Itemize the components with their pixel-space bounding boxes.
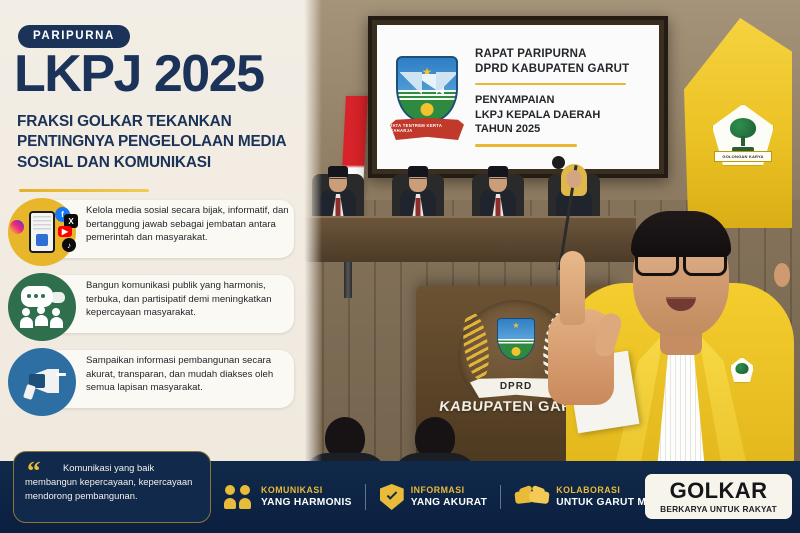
- crest-sun: [421, 103, 434, 116]
- feature-2-line1: INFORMASI: [411, 485, 488, 496]
- golkar-logo-badge: GOLKAR BERKARYA UNTUK RAKYAT: [645, 474, 792, 519]
- quote-mark-icon: “: [27, 458, 41, 485]
- list-item: f X ▶ ♪ Kelola media sosial secara bijak…: [8, 198, 298, 266]
- feature-informasi: INFORMASI YANG AKURAT: [365, 484, 501, 510]
- megaphone-glyph: [19, 365, 65, 399]
- slide-divider: [475, 83, 626, 86]
- garut-crest-wrap: ★ TATA TENTREM KERTA RAHARJA: [385, 54, 469, 140]
- points-list: f X ▶ ♪ Kelola media sosial secara bijak…: [8, 198, 298, 423]
- quote-text: Komunikasi yang baik membangun kepercaya…: [25, 461, 199, 503]
- crest-motto-ribbon: TATA TENTREM KERTA RAHARJA: [390, 118, 464, 140]
- chat-bubble-icon: [19, 286, 65, 328]
- people-group-icon: [19, 313, 65, 328]
- page-subtitle: FRAKSI GOLKAR TEKANKAN PENTINGNYA PENGEL…: [17, 112, 302, 173]
- feature-1-line2: YANG HARMONIS: [261, 496, 352, 509]
- infographic-poster: ★ TATA TENTREM KERTA RAHARJA RAPAT PARIP…: [0, 0, 800, 533]
- podium-crest-star: ★: [512, 322, 519, 330]
- crest-motto-text: TATA TENTREM KERTA RAHARJA: [390, 118, 464, 140]
- peci-icon: [328, 166, 348, 177]
- public-dialogue-icon: [8, 273, 76, 341]
- page-title: LKPJ 2025: [14, 48, 264, 100]
- garut-crest-icon: ★ TATA TENTREM KERTA RAHARJA: [390, 54, 464, 140]
- quote-box: “ Komunikasi yang baik membangun keperca…: [13, 451, 211, 523]
- megaphone-icon: [8, 348, 76, 416]
- features-strip: KOMUNIKASI YANG HARMONIS INFORMASI YANG …: [224, 475, 680, 519]
- crest-shield: ★: [396, 56, 458, 122]
- slide-title-line1: RAPAT PARIPURNA: [475, 47, 651, 61]
- youtube-icon: ▶: [58, 226, 72, 237]
- pointing-hand-icon: [542, 255, 620, 405]
- event-photo: ★ TATA TENTREM KERTA RAHARJA RAPAT PARIP…: [296, 0, 800, 533]
- podium-crest-shield: ★: [497, 318, 535, 360]
- phone-icon: [29, 211, 55, 253]
- official-wakil-2: [470, 162, 526, 222]
- tiktok-icon: ♪: [62, 238, 76, 252]
- official-wakil-1: [390, 162, 446, 222]
- feature-1-line1: KOMUNIKASI: [261, 485, 352, 496]
- golkar-logo-tagline: BERKARYA UNTUK RAKYAT: [660, 504, 777, 514]
- peci-icon: [408, 166, 428, 177]
- list-item: Sampaikan informasi pembangunan secara a…: [8, 348, 298, 416]
- list-item: Bangun komunikasi publik yang harmonis, …: [8, 273, 298, 341]
- social-media-phone-icon: f X ▶ ♪: [8, 198, 76, 266]
- speaker-hair: [631, 211, 731, 257]
- crest-waves: [398, 90, 456, 100]
- golkar-logo-name: GOLKAR: [670, 480, 768, 502]
- people-icon: [224, 485, 254, 509]
- point-text-3: Sampaikan informasi pembangunan secara a…: [76, 348, 298, 401]
- slide-title-line2: DPRD KABUPATEN GARUT: [475, 62, 651, 76]
- peci-icon: [488, 166, 508, 177]
- point-text-1: Kelola media sosial secara bijak, inform…: [76, 198, 298, 251]
- shield-check-icon: [380, 484, 404, 510]
- feature-2-line2: YANG AKURAT: [411, 496, 488, 509]
- handshake-icon: [515, 486, 549, 508]
- feature-komunikasi: KOMUNIKASI YANG HARMONIS: [224, 485, 365, 510]
- title-divider: [19, 189, 149, 192]
- point-text-2: Bangun komunikasi publik yang harmonis, …: [76, 273, 298, 326]
- wheat-left-icon: [459, 311, 492, 382]
- instagram-icon: [10, 220, 24, 234]
